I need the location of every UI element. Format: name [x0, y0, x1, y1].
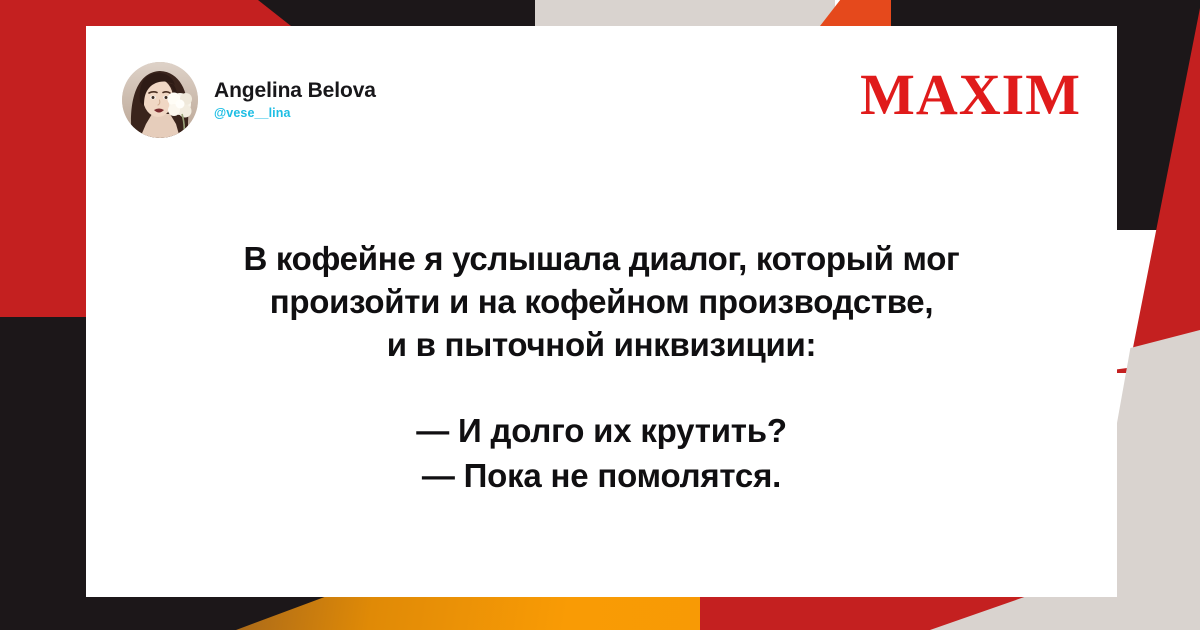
- quote-spacer: [146, 367, 1057, 409]
- background-shape-bottom-band: [0, 596, 1200, 630]
- maxim-logo: MAXIM: [860, 66, 1081, 124]
- quote-line: и в пыточной инквизиции:: [146, 324, 1057, 367]
- author-block: Angelina Belova @vese__lina: [122, 62, 376, 138]
- quote-line: произойти и на кофейном производстве,: [146, 281, 1057, 324]
- card-header: Angelina Belova @vese__lina MAXIM: [122, 62, 1087, 138]
- background-shape-top-gray: [535, 0, 835, 26]
- dialog-line: — И долго их крутить?: [146, 409, 1057, 454]
- avatar: [122, 62, 198, 138]
- quote-body: В кофейне я услышала диалог, который мог…: [146, 238, 1057, 498]
- quote-main-text: В кофейне я услышала диалог, который мог…: [146, 238, 1057, 367]
- author-text: Angelina Belova @vese__lina: [214, 79, 376, 121]
- quote-line: В кофейне я услышала диалог, который мог: [146, 238, 1057, 281]
- background-shape-left-black: [0, 317, 86, 630]
- quote-card-screenshot: Angelina Belova @vese__lina MAXIM В кофе…: [0, 0, 1200, 630]
- dialog-line: — Пока не помолятся.: [146, 454, 1057, 499]
- avatar-portrait-icon: [122, 62, 198, 138]
- author-handle: @vese__lina: [214, 106, 376, 120]
- quote-card: Angelina Belova @vese__lina MAXIM В кофе…: [86, 26, 1117, 597]
- author-display-name: Angelina Belova: [214, 79, 376, 103]
- background-shape-top-red: [0, 0, 300, 26]
- background-shape-left-red: [0, 0, 86, 317]
- quote-dialog-text: — И долго их крутить? — Пока не помолятс…: [146, 409, 1057, 499]
- background-shape-top-black-left: [300, 0, 535, 26]
